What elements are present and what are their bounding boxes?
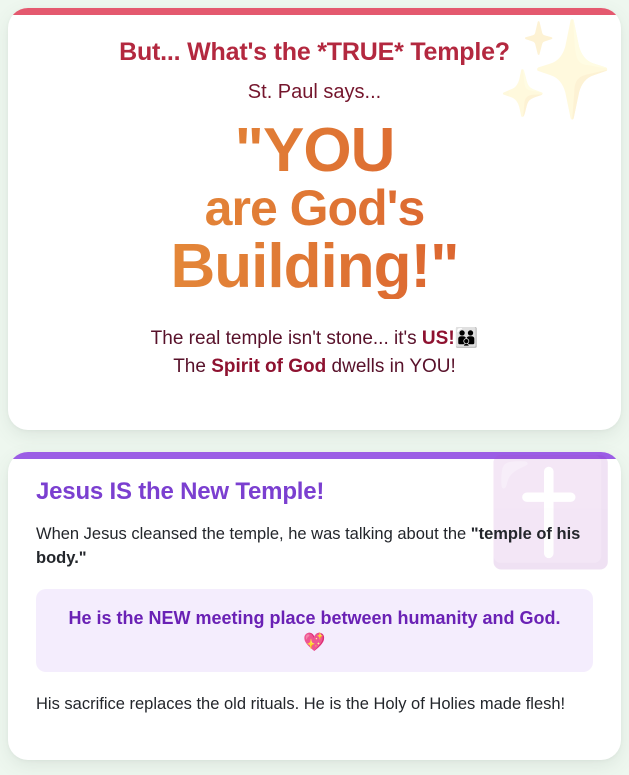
verse-quote-line-1: "YOU <box>34 122 595 181</box>
verse-quote: "YOU are God's Building!" <box>34 122 595 299</box>
teaching-callout-text: He is the NEW meeting place between huma… <box>68 608 560 628</box>
verse-card: ✨ But... What's the *TRUE* Temple? St. P… <box>8 8 621 430</box>
verse-quote-line-2: are God's <box>34 181 595 235</box>
takeaway-line-1-text: The real temple isn't stone... it's <box>151 328 422 349</box>
takeaway-line-2-tail: dwells in YOU! <box>326 356 456 377</box>
verse-question-heading: But... What's the *TRUE* Temple? <box>34 38 595 67</box>
teaching-callout: He is the NEW meeting place between huma… <box>36 589 593 673</box>
sparkling-heart-icon: 💖 <box>303 632 325 653</box>
teaching-body: When Jesus cleansed the temple, he was t… <box>36 522 593 571</box>
teaching-card: ✝️ Jesus IS the New Temple! When Jesus c… <box>8 452 621 760</box>
verse-attribution: St. Paul says... <box>34 81 595 104</box>
takeaway-line-2-text: The <box>173 356 211 377</box>
takeaway-line-2: The Spirit of God dwells in YOU! <box>173 356 456 377</box>
verse-quote-line-3: Building!" <box>34 235 595 299</box>
takeaway-line-2-emphasis: Spirit of God <box>211 356 326 377</box>
teaching-title: Jesus IS the New Temple! <box>36 478 593 506</box>
slide-deck: ✨ But... What's the *TRUE* Temple? St. P… <box>0 0 629 760</box>
teaching-body-text: When Jesus cleansed the temple, he was t… <box>36 525 471 543</box>
takeaway-line-1-emphasis: US! <box>422 328 455 349</box>
family-icon: 👪 <box>455 327 479 349</box>
verse-takeaway: The real temple isn't stone... it's US!👪… <box>34 325 595 380</box>
teaching-closing: His sacrifice replaces the old rituals. … <box>36 692 593 716</box>
takeaway-line-1: The real temple isn't stone... it's US!👪 <box>151 328 479 349</box>
